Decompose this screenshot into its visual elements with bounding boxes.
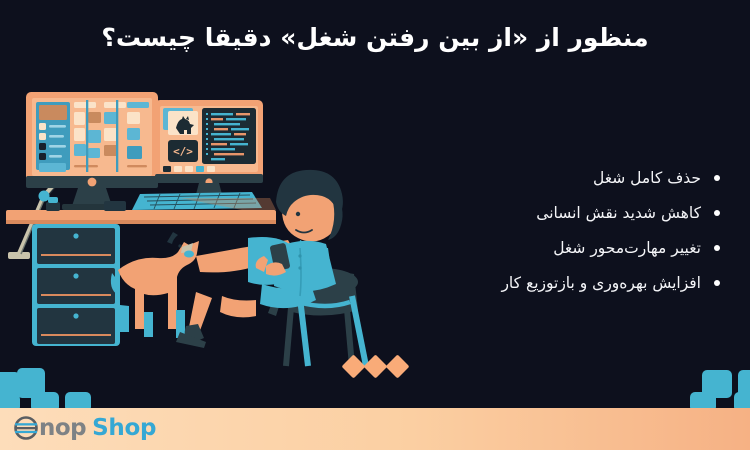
- logo-text-shop: Shop: [92, 416, 156, 440]
- footer-band: nop Shop: [0, 408, 750, 450]
- svg-text:</>: </>: [173, 145, 193, 158]
- diamond-icon: [385, 354, 409, 378]
- bullet-dot-icon: [714, 245, 720, 251]
- list-item-label: افزایش بهره‌وری و بازتوزیع کار: [501, 274, 701, 292]
- list-item-label: حذف کامل شغل: [593, 169, 701, 187]
- list-item: کاهش شدید نقش انسانی: [390, 198, 720, 228]
- bullet-dot-icon: [714, 210, 720, 216]
- list-item-label: تغییر مهارت‌محور شغل: [553, 239, 701, 257]
- diamond-icon: [363, 354, 387, 378]
- diamond-icon: [341, 354, 365, 378]
- list-item-label: کاهش شدید نقش انسانی: [536, 204, 701, 222]
- brand-logo[interactable]: nop Shop: [14, 416, 156, 440]
- poster-canvas: منظور از «از بین رفتن شغل» دقیقا چیست؟: [0, 0, 750, 450]
- nop-circle-icon: [14, 416, 38, 440]
- logo-text-nop: nop: [39, 416, 86, 440]
- dog-illustration: [111, 232, 199, 338]
- page-title: منظور از «از بین رفتن شغل» دقیقا چیست؟: [0, 22, 750, 53]
- bullet-dot-icon: [714, 280, 720, 286]
- monitor-secondary: </>: [155, 100, 263, 198]
- diamond-decoration: [345, 358, 406, 375]
- bullet-list: حذف کامل شغل کاهش شدید نقش انسانی تغییر …: [390, 163, 720, 303]
- bullet-dot-icon: [714, 175, 720, 181]
- list-item: افزایش بهره‌وری و بازتوزیع کار: [390, 268, 720, 298]
- drawer-cabinet: [32, 224, 120, 346]
- list-item: تغییر مهارت‌محور شغل: [390, 233, 720, 263]
- list-item: حذف کامل شغل: [390, 163, 720, 193]
- illustration-desk-scene: </>: [0, 70, 430, 370]
